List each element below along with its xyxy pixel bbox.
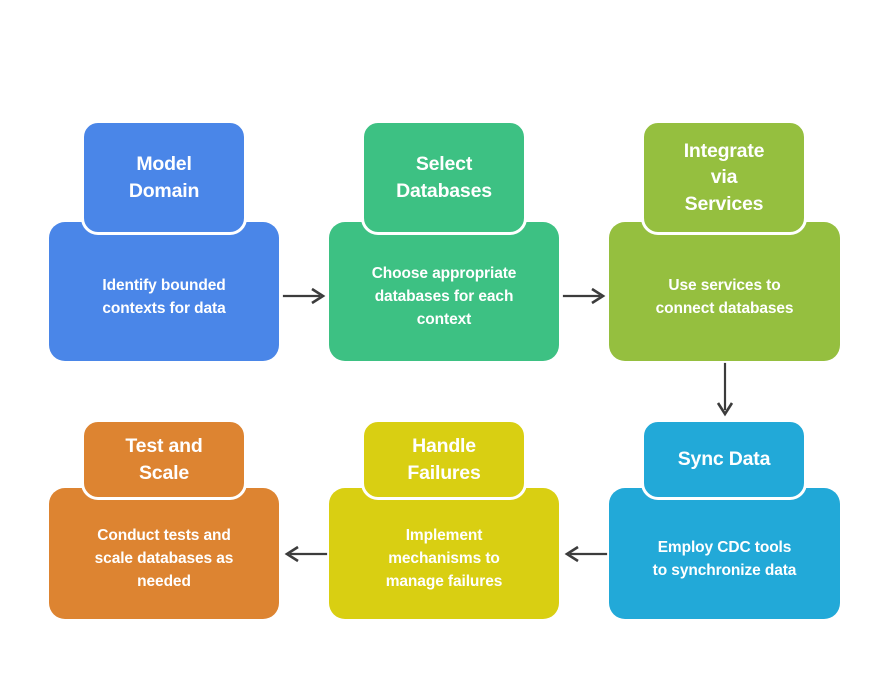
flow-step-1-title: Model Domain xyxy=(129,151,199,203)
connector-arrow-step4-to-step5 xyxy=(563,543,607,565)
flow-step-6-description: Conduct tests and scale databases as nee… xyxy=(49,525,279,594)
flow-step-5-header[interactable]: Handle Failures xyxy=(361,419,527,500)
connector-arrow-step2-to-step3 xyxy=(563,285,607,307)
flow-step-3-header[interactable]: Integrate via Services xyxy=(641,120,807,235)
flow-step-4-description: Employ CDC tools to synchronize data xyxy=(609,537,840,583)
flow-step-6-body: Conduct tests and scale databases as nee… xyxy=(49,488,279,619)
flow-step-5-body: Implement mechanisms to manage failures xyxy=(329,488,559,619)
connector-arrow-step1-to-step2 xyxy=(283,285,327,307)
flow-step-2-body: Choose appropriate databases for each co… xyxy=(329,222,559,361)
flow-step-5[interactable]: Implement mechanisms to manage failures … xyxy=(329,488,559,619)
flow-step-3-title: Integrate via Services xyxy=(684,138,765,216)
connector-arrow-step5-to-step6 xyxy=(283,543,327,565)
flow-step-1-header[interactable]: Model Domain xyxy=(81,120,247,235)
flow-step-4-body: Employ CDC tools to synchronize data xyxy=(609,488,840,619)
flow-step-5-title: Handle Failures xyxy=(407,433,480,485)
flow-step-4-title: Sync Data xyxy=(678,446,771,472)
flow-step-1[interactable]: Identify bounded contexts for data Model… xyxy=(49,222,279,361)
flow-step-2[interactable]: Choose appropriate databases for each co… xyxy=(329,222,559,361)
flow-step-3[interactable]: Use services to connect databases Integr… xyxy=(609,222,840,361)
flow-step-3-description: Use services to connect databases xyxy=(609,275,840,321)
connector-arrow-step3-to-step4 xyxy=(714,363,736,421)
flowchart-diagram: Identify bounded contexts for data Model… xyxy=(0,0,888,696)
flow-step-1-body: Identify bounded contexts for data xyxy=(49,222,279,361)
flow-step-1-description: Identify bounded contexts for data xyxy=(49,275,279,321)
flow-step-6-header[interactable]: Test and Scale xyxy=(81,419,247,500)
flow-step-3-body: Use services to connect databases xyxy=(609,222,840,361)
flow-step-4[interactable]: Employ CDC tools to synchronize data Syn… xyxy=(609,488,840,619)
flow-step-2-description: Choose appropriate databases for each co… xyxy=(329,263,559,332)
flow-step-2-header[interactable]: Select Databases xyxy=(361,120,527,235)
flow-step-6-title: Test and Scale xyxy=(125,433,202,485)
flow-step-5-description: Implement mechanisms to manage failures xyxy=(329,525,559,594)
flow-step-2-title: Select Databases xyxy=(396,151,492,203)
flow-step-4-header[interactable]: Sync Data xyxy=(641,419,807,500)
flow-step-6[interactable]: Conduct tests and scale databases as nee… xyxy=(49,488,279,619)
